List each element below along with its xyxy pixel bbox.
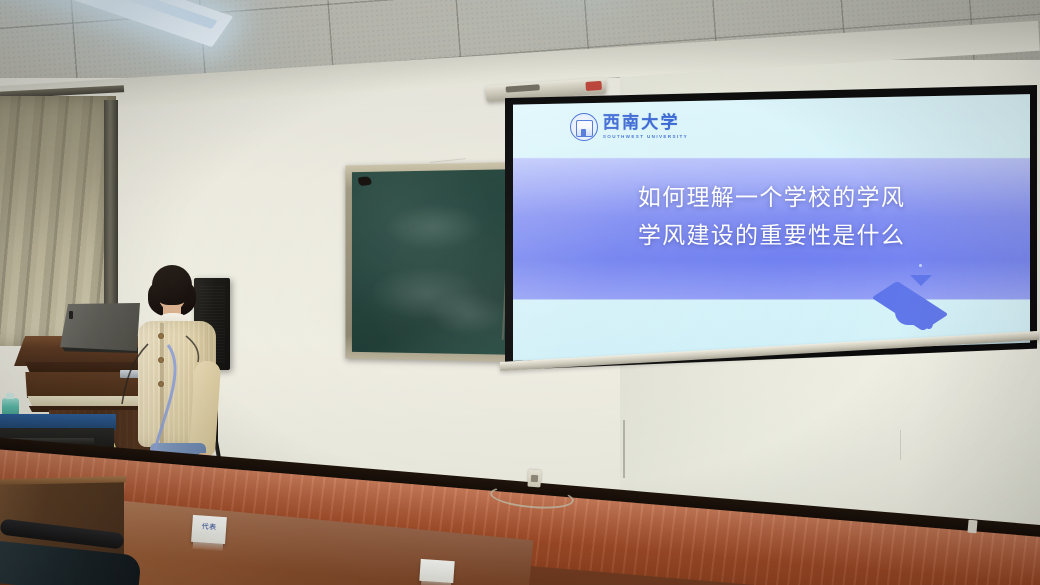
- housing-arm: [506, 84, 540, 92]
- right-wall-socket: [967, 520, 977, 534]
- presentation-slide: 西南大学 SOUTHWEST UNIVERSITY 如何理解一个学校的学风 学风…: [513, 93, 1030, 362]
- classroom-presentation-photo: 西南大学 SOUTHWEST UNIVERSITY 如何理解一个学校的学风 学风…: [0, 0, 1040, 585]
- cardigan-button-3: [158, 381, 164, 387]
- wall-crack: [623, 420, 625, 478]
- projection-screen: 西南大学 SOUTHWEST UNIVERSITY 如何理解一个学校的学风 学风…: [505, 85, 1037, 370]
- slide-title-line-1: 如何理解一个学校的学风: [513, 180, 1030, 217]
- cardigan-button-1: [158, 333, 164, 339]
- slide-title-line-2: 学风建设的重要性是什么: [513, 218, 1030, 255]
- logo-name-en: SOUTHWEST UNIVERSITY: [603, 135, 688, 140]
- wall-power-outlet: [527, 470, 541, 488]
- name-card-front-text: 代表: [192, 521, 227, 533]
- name-card-front: 代表: [191, 515, 227, 544]
- slide-university-logo: 西南大学 SOUTHWEST UNIVERSITY: [570, 113, 688, 141]
- name-card-second-text: [420, 565, 454, 567]
- university-seal-icon: [570, 113, 598, 141]
- blackboard-chip: [358, 176, 372, 186]
- slide-dot-accent: [919, 264, 922, 267]
- graduation-cap-icon: [880, 285, 958, 337]
- cardigan-button-2: [158, 357, 164, 363]
- name-card-second: [419, 559, 454, 583]
- slide-title: 如何理解一个学校的学风 学风建设的重要性是什么: [513, 179, 1030, 257]
- presenter-hair: [152, 265, 192, 305]
- wall-crack-2: [900, 430, 901, 460]
- blackboard-surface: [352, 169, 519, 355]
- screen-image-area: 西南大学 SOUTHWEST UNIVERSITY 如何理解一个学校的学风 学风…: [513, 93, 1030, 362]
- housing-end-cap: [585, 81, 602, 91]
- foreground-chair: [0, 520, 150, 585]
- presenter-laptop: [60, 303, 140, 351]
- laptop-logo: [69, 311, 73, 319]
- logo-name-cn: 西南大学: [603, 115, 688, 132]
- blackboard: [346, 162, 526, 362]
